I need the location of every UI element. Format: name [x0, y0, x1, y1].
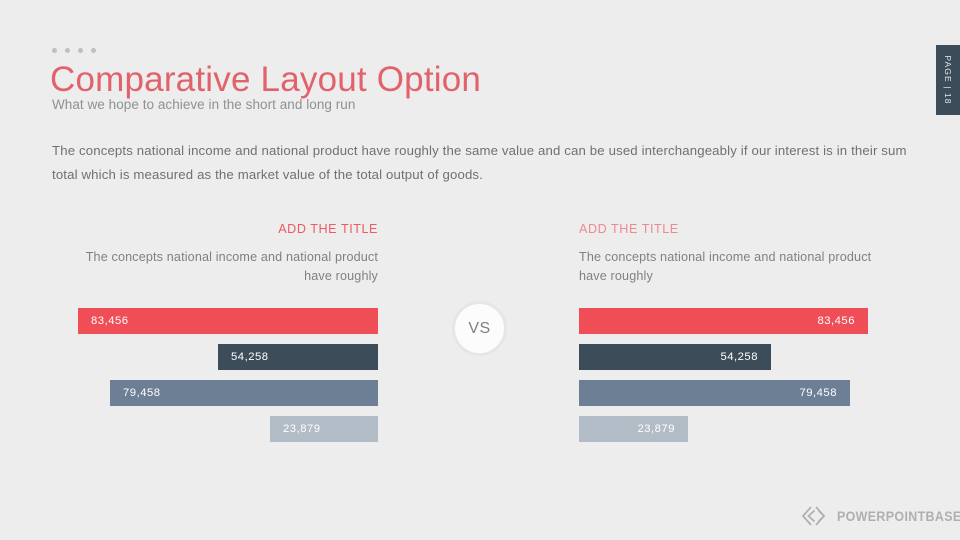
left-column-title: ADD THE TITLE: [78, 222, 378, 236]
bar-segment: 79,458: [579, 380, 850, 406]
bar-row: 83,456: [579, 308, 879, 334]
bar-value-label: 83,456: [817, 315, 855, 327]
bar-value-label: 54,258: [720, 351, 758, 363]
bar-row: 79,458: [579, 380, 879, 406]
page-title: Comparative Layout Option: [50, 58, 481, 102]
nested-chevron-diamond-icon: [800, 504, 830, 528]
left-column-description: The concepts national income and nationa…: [78, 248, 378, 286]
left-column-header: ADD THE TITLE The concepts national inco…: [78, 222, 378, 286]
bar-segment: 83,456: [579, 308, 868, 334]
right-column-title: ADD THE TITLE: [579, 222, 879, 236]
intro-paragraph: The concepts national income and nationa…: [52, 139, 910, 187]
bar-segment: 23,879: [579, 416, 688, 442]
footer-logo-text: POWERPOINTBASE.COM: [837, 509, 960, 524]
footer-logo: POWERPOINTBASE.COM: [800, 504, 960, 528]
bar-row: 23,879: [78, 416, 378, 442]
vs-label: VS: [468, 320, 490, 338]
bar-value-label: 79,458: [799, 387, 837, 399]
bar-segment: 23,879: [270, 416, 378, 442]
bar-value-label: 23,879: [637, 423, 675, 435]
page-number-label: PAGE | 18: [943, 55, 953, 104]
right-bar-chart: 83,456 54,258 79,458 23,879: [579, 308, 879, 452]
bar-row: 23,879: [579, 416, 879, 442]
bar-row: 54,258: [579, 344, 879, 370]
left-bar-chart: 83,456 54,258 79,458 23,879: [78, 308, 378, 452]
bar-value-label: 54,258: [231, 351, 269, 363]
page-subtitle: What we hope to achieve in the short and…: [52, 97, 355, 112]
bar-segment: 54,258: [218, 344, 378, 370]
bar-value-label: 83,456: [91, 315, 129, 327]
vs-badge: VS: [452, 301, 507, 356]
dot-icon: [78, 48, 83, 53]
bar-segment: 79,458: [110, 380, 378, 406]
page-number-tab: PAGE | 18: [936, 45, 960, 115]
dot-icon: [91, 48, 96, 53]
bar-value-label: 23,879: [283, 423, 321, 435]
slide-canvas: PAGE | 18 Comparative Layout Option What…: [0, 0, 960, 540]
bar-row: 83,456: [78, 308, 378, 334]
dot-icon: [52, 48, 57, 53]
bar-segment: 54,258: [579, 344, 771, 370]
dot-icon: [65, 48, 70, 53]
bar-row: 79,458: [78, 380, 378, 406]
right-column-description: The concepts national income and nationa…: [579, 248, 879, 286]
bar-row: 54,258: [78, 344, 378, 370]
bar-segment: 83,456: [78, 308, 378, 334]
right-column-header: ADD THE TITLE The concepts national inco…: [579, 222, 879, 286]
decorative-dots: [52, 48, 96, 53]
bar-value-label: 79,458: [123, 387, 161, 399]
